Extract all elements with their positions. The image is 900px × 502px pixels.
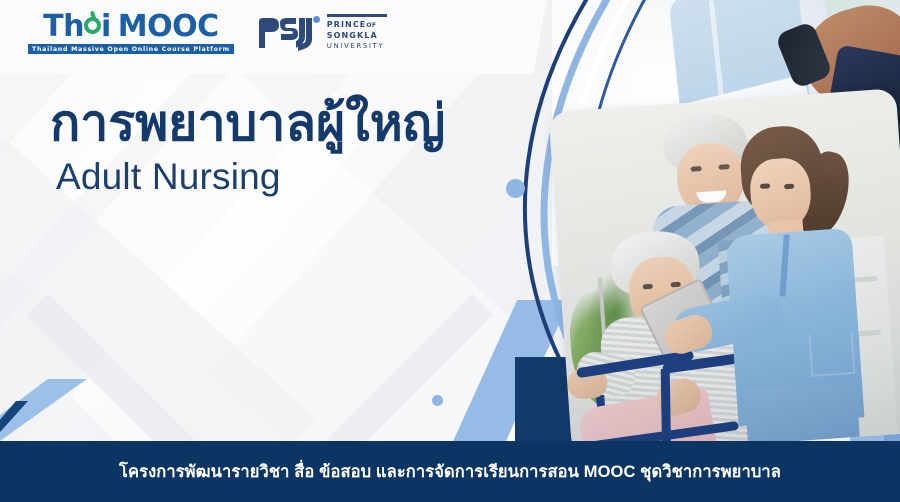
decorative-dot-large [506,179,525,198]
psu-wordmark: PRINCEOF SONGKLA UNIVERSITY [327,14,387,51]
psu-line-songkla: SONGKLA [327,31,387,42]
logo-row: Th i MOOC Thailand Massive Open Online C… [28,12,387,54]
thai-mooc-tagline: Thailand Massive Open Online Course Plat… [28,44,234,54]
psu-line-prince: PRINCEOF [327,20,387,31]
footer-caption: โครงการพัฒนารายวิชา สื่อ ข้อสอบ และการจั… [119,459,781,485]
footer-bar: โครงการพัฒนารายวิชา สื่อ ข้อสอบ และการจั… [0,441,900,502]
psu-line-university: UNIVERSITY [327,42,387,51]
psu-rule [327,14,387,17]
course-title-thai: การพยาบาลผู้ใหญ่ [50,96,445,150]
thai-mooc-word-mooc: MOOC [118,12,219,42]
thai-mooc-logo: Th i MOOC Thailand Massive Open Online C… [28,12,234,54]
thai-mooc-word-tha: Th [43,12,84,42]
nursing-scene-photo [548,88,900,456]
psu-line1-text: PRINCE [327,20,367,29]
psu-logo: PRINCEOF SONGKLA UNIVERSITY [256,14,387,51]
course-title-english: Adult Nursing [56,156,445,198]
decorative-dot-small [432,395,443,406]
psu-line1-suffix: OF [366,22,376,29]
psu-accent-dot [313,16,320,23]
title-block: การพยาบาลผู้ใหญ่ Adult Nursing [50,96,445,198]
course-banner: Th i MOOC Thailand Massive Open Online C… [0,0,900,502]
psu-monogram-icon [256,15,318,51]
thai-mooc-word-i: i [101,12,111,42]
leaf-icon [84,12,101,36]
